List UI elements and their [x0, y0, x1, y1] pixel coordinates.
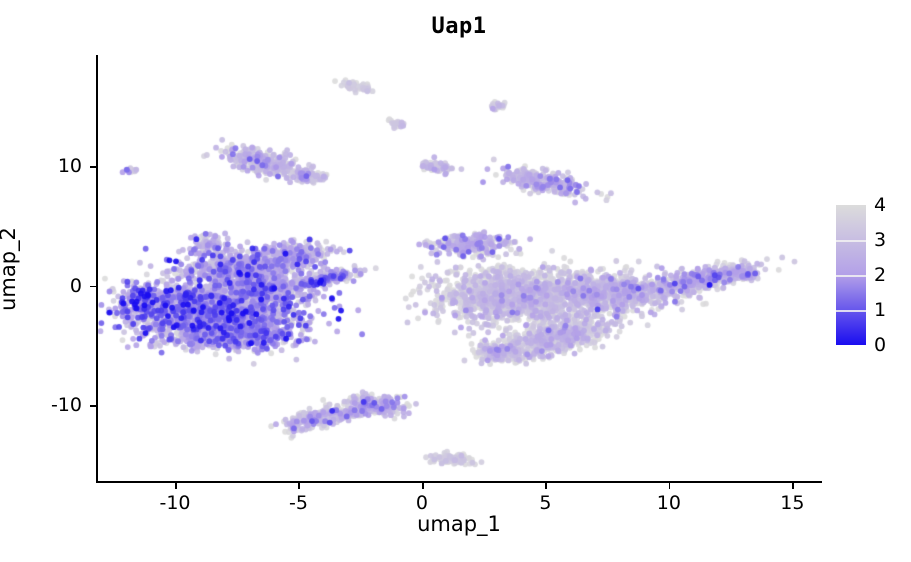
y-tick-label: 0 [70, 275, 82, 297]
colorbar: 01234 [836, 205, 906, 345]
y-tick-mark [90, 166, 96, 168]
x-tick-mark [545, 483, 547, 489]
y-tick-mark [90, 286, 96, 288]
x-tick-label: 10 [657, 492, 681, 514]
x-tick-mark [298, 483, 300, 489]
x-tick-mark [422, 483, 424, 489]
y-tick-mark [90, 405, 96, 407]
page-title: Uap1 [96, 14, 822, 39]
plot-axes: -10-5051015 -10010 [96, 55, 822, 483]
y-tick-label: -10 [51, 394, 82, 416]
colorbar-tick-label: 0 [874, 334, 886, 356]
x-tick-label: 15 [780, 492, 804, 514]
colorbar-tick-mark [836, 310, 866, 312]
y-axis-label: umap_2 [0, 227, 20, 311]
x-tick-mark [792, 483, 794, 489]
y-tick-label: 10 [58, 155, 82, 177]
x-tick-mark [669, 483, 671, 489]
x-tick-label: -5 [289, 492, 308, 514]
x-tick-label: -10 [159, 492, 190, 514]
umap-feature-plot: Uap1 -10-5051015 -10010 umap_1 umap_2 01… [0, 0, 911, 562]
axis-spine-bottom [96, 481, 822, 483]
colorbar-tick-label: 4 [874, 194, 886, 216]
colorbar-tick-label: 2 [874, 264, 886, 286]
x-tick-label: 5 [539, 492, 551, 514]
colorbar-tick-mark [836, 275, 866, 277]
colorbar-tick-mark [836, 240, 866, 242]
colorbar-tick-label: 1 [874, 299, 886, 321]
x-tick-mark [175, 483, 177, 489]
x-axis-label: umap_1 [96, 512, 822, 536]
x-tick-label: 0 [416, 492, 428, 514]
scatter-points-layer [96, 55, 822, 483]
axis-spine-left [96, 55, 98, 483]
colorbar-tick-label: 3 [874, 229, 886, 251]
